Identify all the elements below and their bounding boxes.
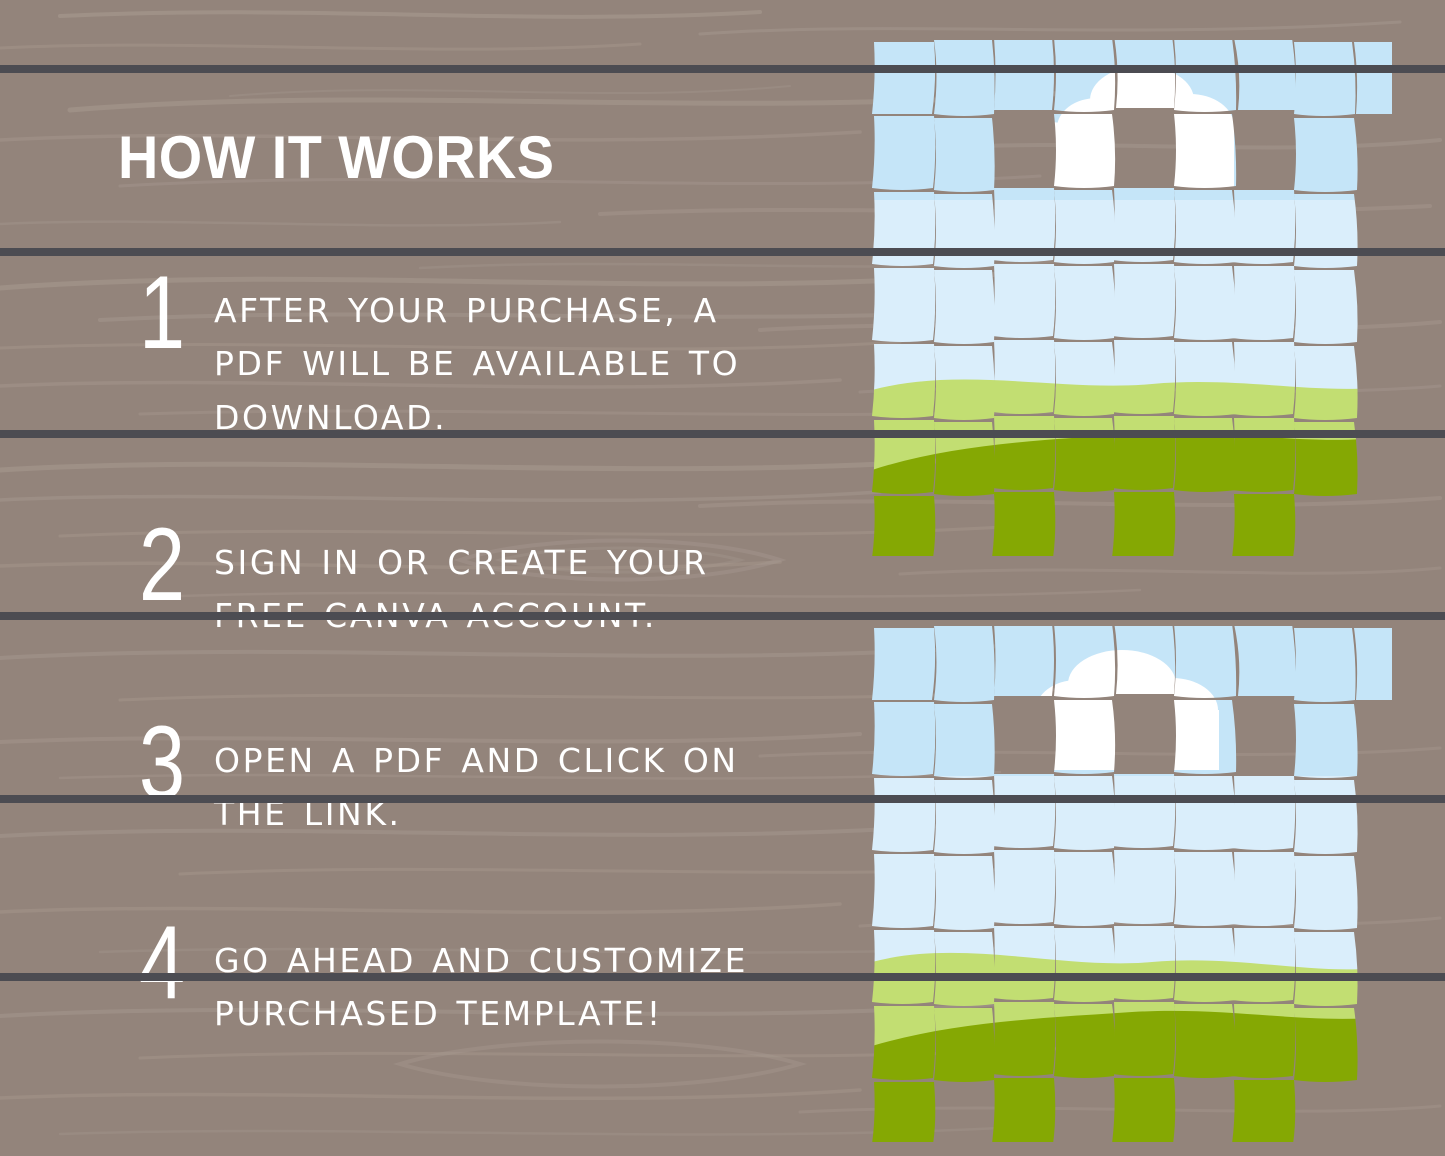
landscape-scene xyxy=(872,626,1392,1142)
step-text: After your purchase, a PDF will be avail… xyxy=(214,272,784,444)
step-number: 1 xyxy=(120,266,203,362)
step-text: Go ahead and customize purchased templat… xyxy=(214,922,784,1041)
step-text: Sign in or create your free Canva accoun… xyxy=(214,524,784,643)
list-item: 3 Open a PDF and click on the link. xyxy=(0,722,860,841)
list-item: 2 Sign in or create your free Canva acco… xyxy=(0,524,860,643)
step-number: 2 xyxy=(120,518,203,614)
content-column: HOW IT WORKS 1 After your purchase, a PD… xyxy=(0,0,860,1156)
page-title: HOW IT WORKS xyxy=(118,128,554,188)
step-text: Open a PDF and click on the link. xyxy=(214,722,784,841)
artwork-checkered-landscape-top xyxy=(872,40,1392,556)
list-item: 4 Go ahead and customize purchased templ… xyxy=(0,922,860,1041)
step-number: 3 xyxy=(120,716,203,812)
artwork-checkered-landscape-bottom xyxy=(872,626,1392,1142)
step-number: 4 xyxy=(120,916,203,1012)
list-item: 1 After your purchase, a PDF will be ava… xyxy=(0,272,860,444)
poster-canvas: HOW IT WORKS 1 After your purchase, a PD… xyxy=(0,0,1445,1156)
landscape-scene xyxy=(872,40,1392,556)
